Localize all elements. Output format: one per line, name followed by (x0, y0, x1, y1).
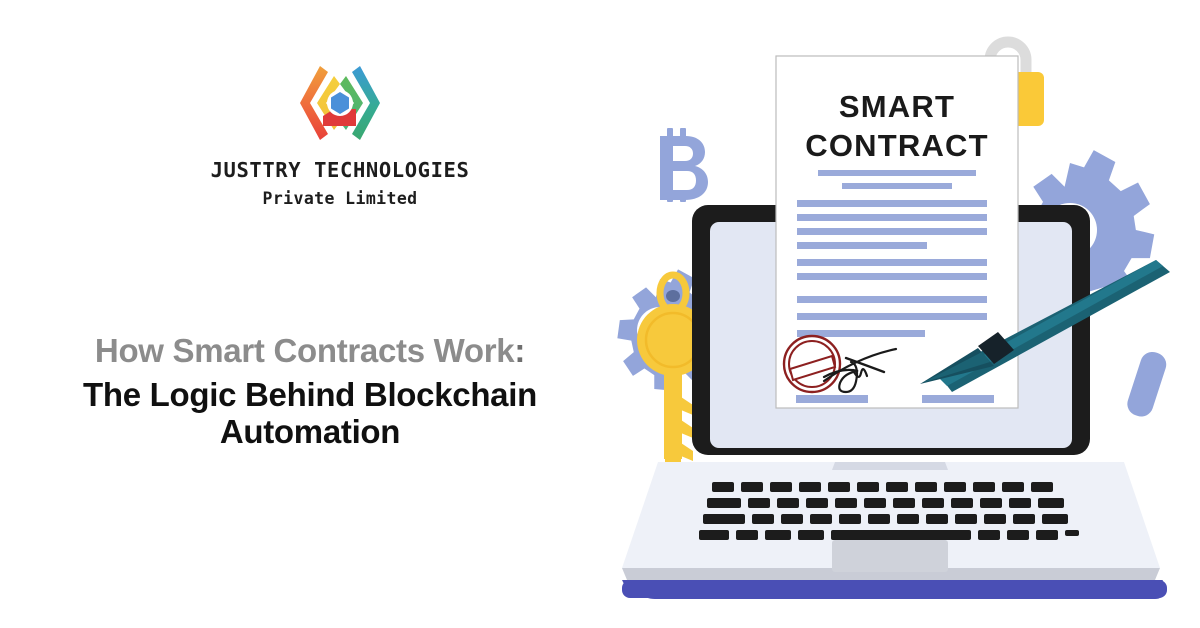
headline-block: How Smart Contracts Work: The Logic Behi… (20, 332, 600, 451)
document-title-line-2: CONTRACT (805, 128, 989, 163)
headline-colon: : (514, 332, 525, 369)
brand-logo-block: JUSTTRY TECHNOLOGIES Private Limited (180, 60, 500, 208)
headline-line-2: The Logic Behind Blockchain Automation (20, 376, 600, 451)
left-content-column: JUSTTRY TECHNOLOGIES Private Limited How… (0, 0, 620, 628)
company-name: JUSTTRY TECHNOLOGIES (180, 158, 500, 182)
smart-contract-laptop-illustration: SMART CONTRACT (600, 0, 1200, 628)
bitcoin-symbol-icon (660, 128, 708, 202)
document-title-line-1: SMART (839, 89, 955, 124)
laptop-trackpad (832, 540, 948, 572)
headline-line-1: How Smart Contracts Work: (20, 332, 600, 370)
banner-root: JUSTTRY TECHNOLOGIES Private Limited How… (0, 0, 1200, 628)
rounded-bar-decoration-icon (1124, 349, 1169, 420)
headline-line-1-text: How Smart Contracts Work (95, 332, 514, 369)
company-suffix: Private Limited (180, 189, 500, 208)
hexagon-chevrons-logo-icon (290, 60, 390, 146)
